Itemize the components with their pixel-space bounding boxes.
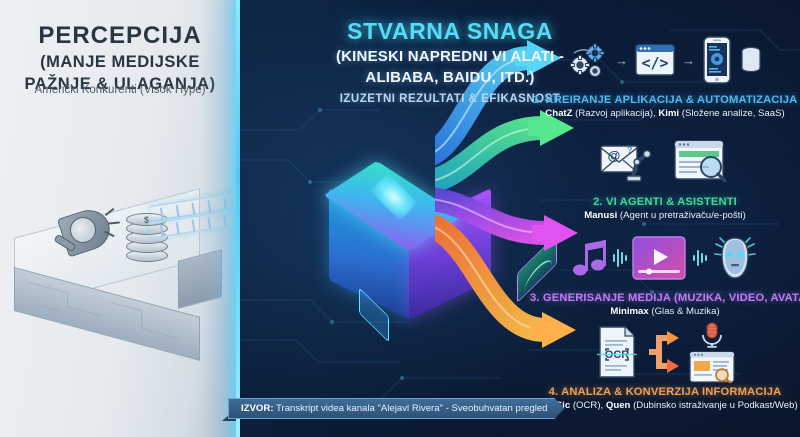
row-ai-agents: @ ? [530,128,800,221]
source-value: Transkript videa kanala "Alejavl Rivera"… [274,403,548,414]
row1-subtext: ChatZ (Razvoj aplikacija), Kimi (Složene… [530,108,800,119]
row1-tool-b: Kimi [658,108,679,119]
email-robot-arm-icon: @ ? [599,136,659,188]
row-app-creation: → </> → [530,26,800,119]
source-ribbon: IZVOR: Transkript videa kanala "Alejavl … [228,398,565,419]
row2-icons: @ ? [530,128,800,196]
row3-detail-a: (Glas & Muzika) [649,306,720,317]
row4-subtext: DeepSic (OCR), Quen (Dubinsko istraživan… [530,400,800,411]
svg-text:?: ? [627,145,633,155]
svg-text:@: @ [608,148,621,163]
row3-icons [530,224,800,292]
video-player-icon [632,236,686,280]
row2-subtext: Manusi (Agent u pretraživaču/e-pošti) [530,210,800,221]
split-arrows-icon [647,328,681,376]
row4-detail-a: (OCR), [570,400,606,411]
waveform-icon [691,245,707,271]
gears-icon [567,40,609,80]
row2-detail-a: (Agent u pretraživaču/e-pošti) [617,210,746,221]
row-media-generation: 3. GENERISANJE MEDIJA (MUZIKA, VIDEO, AV… [530,224,800,317]
perception-illustration: $ [8,195,233,325]
music-note-icon [572,237,606,279]
row2-tool-a: Manusi [584,210,617,221]
row3-subtext: Minimax (Glas & Muzika) [530,306,800,317]
row1-icons: → </> → [530,26,800,94]
row2-heading: 2. VI AGENTI & ASISTENTI [530,196,800,208]
arrow-right-icon: → [682,54,695,67]
row3-tool-a: Minimax [610,306,648,317]
row4-detail-b: (Dubinsko istraživanje u Podkast/Web) [630,400,797,411]
left-subtitle: Američki Konkurenti (Visok Hype) [0,84,240,96]
ocr-document-icon: OCR [595,325,639,379]
row4-heading: 4. ANALIZA & KONVERZIJA INFORMACIJA [530,386,800,398]
slab-side-face [178,249,222,309]
infographic-canvas: PERCEPCIJA (MANJE MEDIJSKE PAŽNJE & ULAG… [0,0,800,437]
row1-detail-b: (Složene analize, SaaS) [679,108,785,119]
row4-tool-b: Quen [606,400,631,411]
row1-detail-a: (Razvoj aplikacija), [572,108,658,119]
source-text: IZVOR: Transkript videa kanala "Alejavl … [241,403,548,414]
row1-heading: 1. KREIRANJE APLIKACIJA & AUTOMATIZACIJA [530,94,800,106]
row1-tool-a: ChatZ [545,108,572,119]
smartphone-icon [701,35,733,85]
waveform-icon [611,245,627,271]
megaphone-icon [42,209,114,261]
browser-search-icon [673,138,731,186]
database-icon [739,44,763,76]
cube-chip-icon [359,287,389,342]
left-title-line1: PERCEPCIJA [0,22,240,50]
row-analysis-conversion: OCR [530,318,800,411]
left-title-line2: (MANJE MEDIJSKE [0,53,240,72]
left-panel-perception: PERCEPCIJA (MANJE MEDIJSKE PAŽNJE & ULAG… [0,0,240,437]
source-label: IZVOR: [241,403,274,414]
webpage-search-icon [689,351,735,383]
row4-icons: OCR [530,318,800,386]
robot-avatar-icon [712,234,758,282]
microphone-icon [698,322,726,348]
arrow-right-icon: → [615,54,628,67]
right-panel-real-power: STVARNA SNAGA (KINESKI NAPREDNI VI ALATI… [240,0,800,437]
svg-text:</>: </> [641,54,668,72]
code-window-icon: </> [634,41,676,79]
row3-heading: 3. GENERISANJE MEDIJA (MUZIKA, VIDEO, AV… [530,292,800,304]
